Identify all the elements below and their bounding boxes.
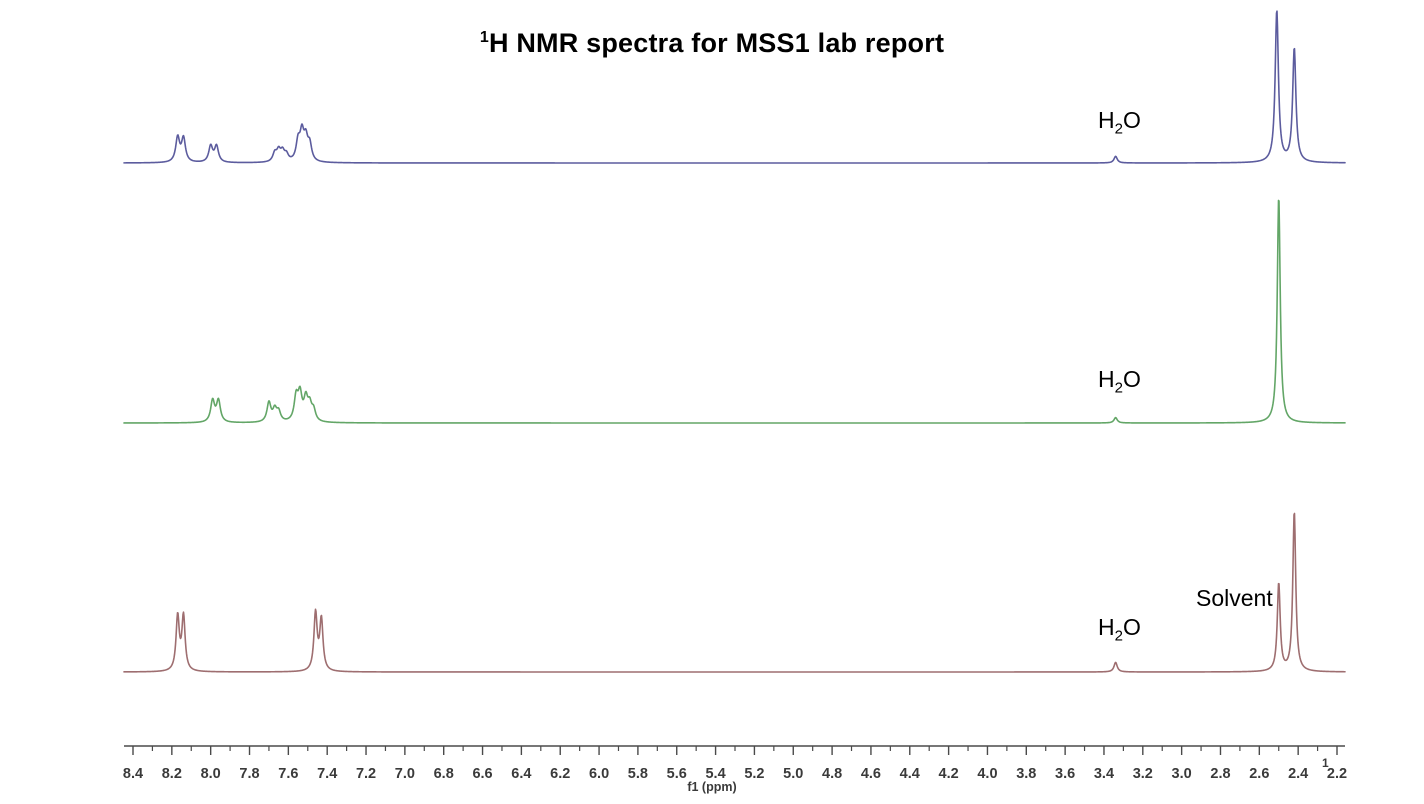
spectrum-svg [0,0,1424,175]
spectrum-trace-top [0,0,1424,175]
annotation-water-top: H2O [1098,107,1141,134]
spectrum-line [124,200,1345,423]
spectrum-trace-middle [0,175,1424,435]
annotation-solvent: Solvent [1196,585,1273,612]
annotation-water-bottom: H2O [1098,614,1141,641]
spectrum-trace-bottom [0,435,1424,685]
axis-svg [0,736,1424,776]
spectrum-line [124,513,1345,672]
axis-title: f1 (ppm) [0,780,1424,794]
nmr-figure: 1H NMR spectra for MSS1 lab report H2O H… [0,0,1424,804]
annotation-water-middle: H2O [1098,366,1141,393]
spectrum-svg [0,435,1424,685]
axis-stray-superscript: 1 [1322,756,1329,770]
spectrum-line [124,11,1345,163]
spectrum-svg [0,175,1424,435]
